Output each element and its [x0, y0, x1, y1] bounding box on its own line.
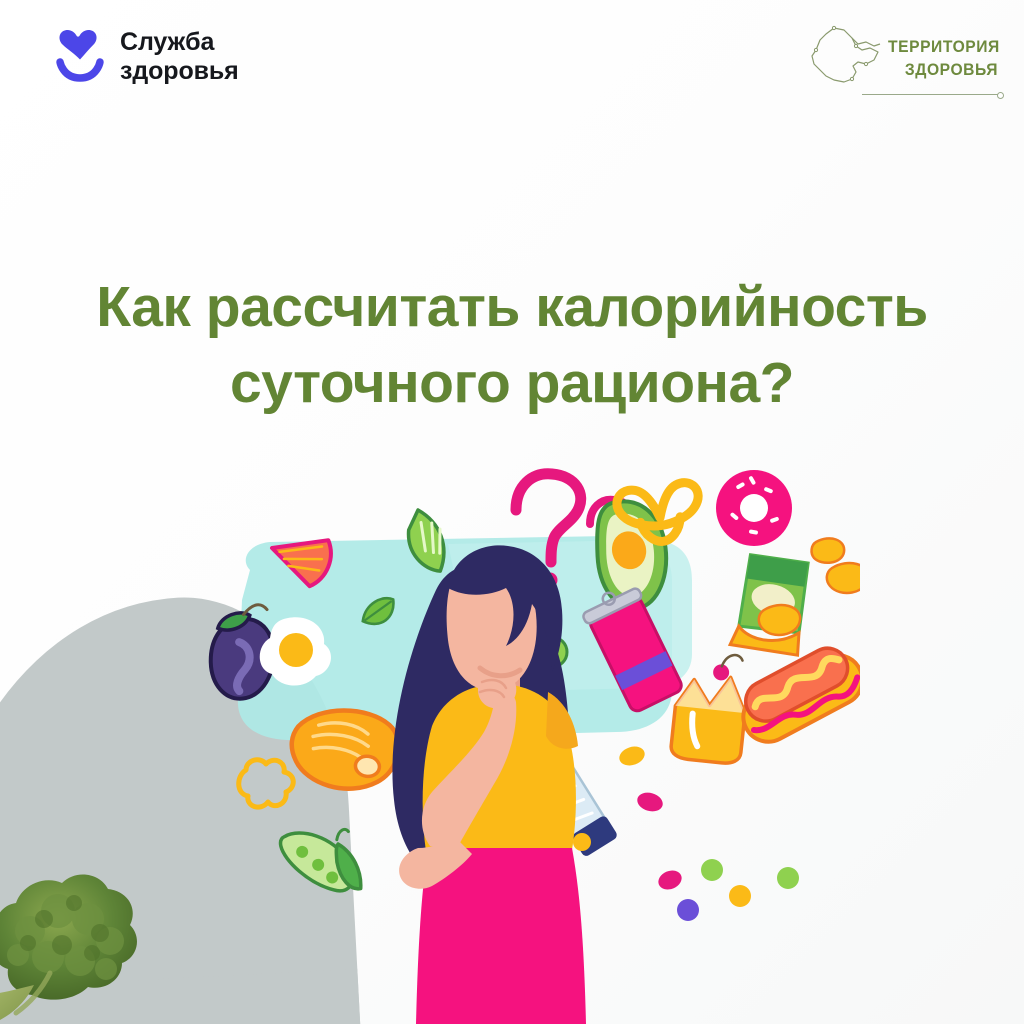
broccoli-floret-icon [239, 760, 294, 807]
page-title: Как рассчитать калорийность суточного ра… [0, 270, 1024, 422]
logo-line-1: Служба [120, 28, 214, 56]
territory-logo-line-2: ЗДОРОВЬЯ [888, 59, 1000, 82]
donut-icon [716, 470, 792, 546]
pea-pod-icon [274, 819, 370, 895]
page-title-line-1: Как рассчитать калорийность [60, 270, 964, 346]
heart-smile-logo-icon [54, 28, 106, 86]
logo-line-2: здоровья [120, 57, 239, 86]
woman-thinking-about-food-illustration [180, 440, 860, 1024]
territory-logo-line-1: ТЕРРИТОРИЯ [888, 37, 1000, 56]
service-health-logo[interactable]: Служба здоровья [54, 28, 239, 86]
poster-canvas: Служба здоровья ТЕРРИТОРИЯ ЗДОРОВЬЯ Как … [0, 0, 1024, 1024]
page-title-line-2: суточного рациона? [60, 346, 964, 422]
service-health-wordmark: Служба здоровья [120, 28, 239, 86]
territory-health-logo[interactable]: ТЕРРИТОРИЯ ЗДОРОВЬЯ [806, 22, 1010, 96]
broccoli-photo [0, 845, 148, 1024]
region-map-outline-icon [806, 22, 884, 96]
logo-underline [862, 94, 1002, 95]
territory-health-wordmark: ТЕРРИТОРИЯ ЗДОРОВЬЯ [888, 36, 1000, 82]
